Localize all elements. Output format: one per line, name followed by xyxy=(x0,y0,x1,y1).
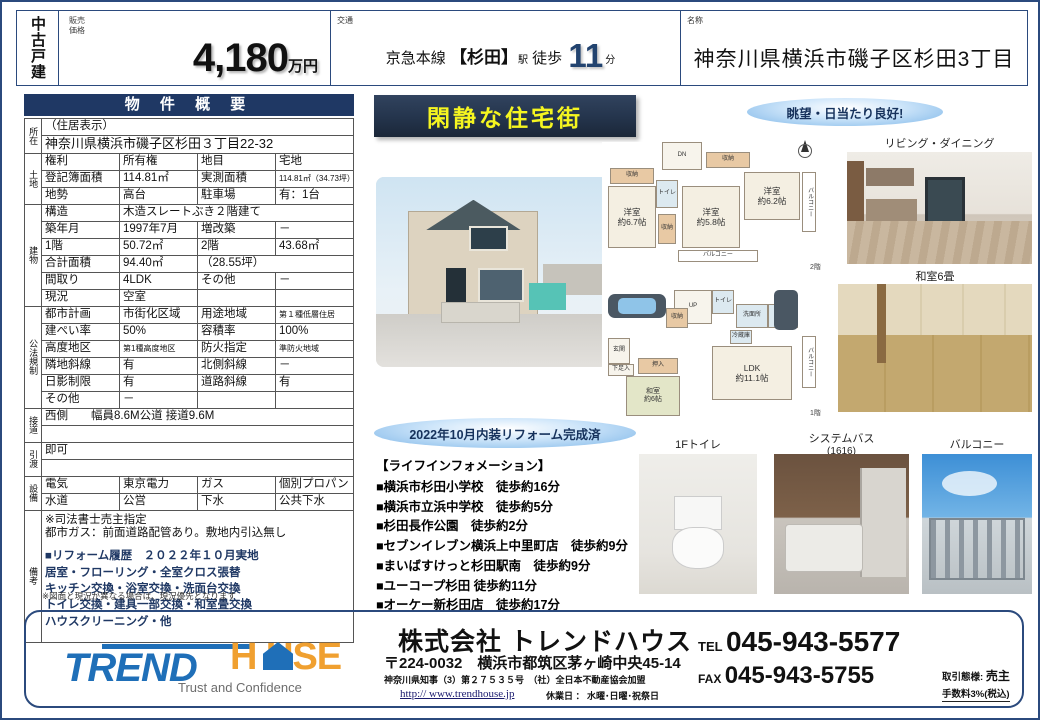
access-line-name: 京急本線 xyxy=(386,50,446,67)
company-website-link[interactable]: http:// www.trendhouse.jp xyxy=(400,688,514,700)
key-shadow-limit: 日影制限 xyxy=(42,374,120,391)
access-label: 交通 xyxy=(337,15,353,26)
table-row-shadow: 日影制限 有 道路斜線 有 xyxy=(25,374,354,391)
caption-living-dining: リビング・ダイニング xyxy=(847,135,1032,151)
key-north-slope: 北側斜線 xyxy=(198,357,276,374)
key-far: 容積率 xyxy=(198,323,276,340)
value-floor2: 43.68㎡ xyxy=(276,238,354,255)
row-label-handover: 引渡 xyxy=(25,442,42,476)
key-status: 現況 xyxy=(42,289,120,306)
value-cityplan: 市街化区域 xyxy=(120,306,198,323)
balcony-railing xyxy=(929,518,1026,580)
spec-table: 所在 （住居表示） 神奈川県横浜市磯子区杉田３丁目22-32 土地 権利 所有権… xyxy=(24,118,354,643)
stairs-2f: DN xyxy=(662,142,702,170)
floorplan-2f-label: 2階 xyxy=(810,262,821,272)
logo-tagline: Trust and Confidence xyxy=(178,680,302,695)
key-other: その他 xyxy=(198,272,276,289)
wa-pillar xyxy=(877,284,887,363)
life-info-item-2: ■杉田長作公園 徒歩約2分 xyxy=(376,517,646,537)
balcony-2f-south: バルコニー xyxy=(678,250,758,262)
value-fire: 準防火地域 xyxy=(276,340,354,357)
tel-label: TEL xyxy=(698,639,722,654)
key-floor2: 2階 xyxy=(198,238,276,255)
caption-washitsu: 和室6畳 xyxy=(838,268,1032,284)
exterior-window-lower xyxy=(478,268,524,302)
key-use-area: 用途地域 xyxy=(198,306,276,323)
room-washitsu-1f: 和室 約6帖 xyxy=(626,376,680,416)
banner-good-view: 眺望・日当たり良好! xyxy=(747,98,943,126)
room-toilet-1f: トイレ xyxy=(712,290,734,314)
key-coverage: 建ぺい率 xyxy=(42,323,120,340)
life-info-item-1: ■横浜市立浜中学校 徒歩約5分 xyxy=(376,498,646,518)
reform-line-0: ■リフォーム履歴 ２０２２年１０月実地 xyxy=(45,548,350,564)
spec-table-title: 物 件 概 要 xyxy=(24,94,354,116)
value-landuse: 宅地 xyxy=(276,153,354,170)
value-coverage: 50% xyxy=(120,323,198,340)
fax-row: FAX 045-943-5755 xyxy=(698,662,874,690)
caption-bath: システムバス (1616) xyxy=(774,430,909,457)
key-cityplan: 都市計画 xyxy=(42,306,120,323)
photo-washitsu xyxy=(838,284,1032,412)
key-floor1: 1階 xyxy=(42,238,120,255)
value-height-district: 第1種高度地区 xyxy=(120,340,198,357)
balcony-cloud xyxy=(942,471,997,496)
life-information-block: 【ライフインフォメーション】 ■横浜市杉田小学校 徒歩約16分 ■横浜市立浜中学… xyxy=(376,457,646,616)
access-station-suffix: 駅 xyxy=(518,55,528,66)
value-parking: 有：1台 xyxy=(276,187,354,204)
location-value: 神奈川県横浜市磯子区杉田３丁目22-32 xyxy=(42,136,354,154)
value-extension: － xyxy=(276,221,354,238)
table-row-height: 高度地区 第1種高度地区 防火指定 準防火地域 xyxy=(25,340,354,357)
table-row-structure: 建物 構造 木造スレートぶき２階建て xyxy=(25,204,354,221)
value-far: 100% xyxy=(276,323,354,340)
table-row-layout: 間取り 4LDK その他 － xyxy=(25,272,354,289)
value-otherreg-pad xyxy=(276,391,354,408)
banner-quiet-neighborhood: 閑静な住宅街 xyxy=(374,95,636,137)
value-use-area: 第１種低層住居 xyxy=(276,306,354,323)
room-entrance-1f: 玄関 xyxy=(608,338,630,364)
ld-flooring xyxy=(847,221,1032,264)
exterior-green-fence xyxy=(529,283,566,310)
access-minutes: 11 xyxy=(566,37,605,74)
key-height-district: 高度地区 xyxy=(42,340,120,357)
value-shadow-limit: 有 xyxy=(120,374,198,391)
room-ldk-1f: LDK 約11.1帖 xyxy=(712,346,792,400)
fax-number: 045-943-5755 xyxy=(725,662,874,689)
room-storage-2f-c: 収納 xyxy=(658,214,676,244)
table-row-road-pad xyxy=(25,425,354,442)
key-water: 水道 xyxy=(42,493,120,510)
key-structure: 構造 xyxy=(42,204,120,221)
wa-tatami-floor xyxy=(838,335,1032,412)
value-other: － xyxy=(276,272,354,289)
row-label-facility: 設備 xyxy=(25,476,42,510)
access-walk-label: 徒歩 xyxy=(532,50,562,67)
key-terrain: 地勢 xyxy=(42,187,120,204)
table-row-adjslope: 隣地斜線 有 北側斜線 － xyxy=(25,357,354,374)
table-row-status: 現況 空室 xyxy=(25,289,354,306)
remarks-line1: ※司法書士売主指定 xyxy=(45,514,350,527)
bath-tub xyxy=(785,524,863,572)
property-address: 神奈川県横浜市磯子区杉田3丁目 xyxy=(681,43,1027,73)
banner-reform-done: 2022年10月内装リフォーム完成済 xyxy=(374,418,636,448)
life-info-item-0: ■横浜市杉田小学校 徒歩約16分 xyxy=(376,478,646,498)
row-label-building: 建物 xyxy=(25,204,42,306)
parking-car-icon-2 xyxy=(774,290,798,330)
fax-label: FAX xyxy=(698,672,721,686)
photo-balcony xyxy=(922,454,1032,594)
row-label-regulation: 公法規制 xyxy=(25,306,42,408)
value-electric: 東京電力 xyxy=(120,476,198,493)
key-rights: 権利 xyxy=(42,153,120,170)
value-terrain: 高台 xyxy=(120,187,198,204)
name-label: 名称 xyxy=(687,15,703,26)
transaction-type-label: 取引態様: xyxy=(942,672,983,683)
caption-toilet: 1Fトイレ xyxy=(639,436,757,452)
key-built-date: 築年月 xyxy=(42,221,120,238)
photo-exterior xyxy=(376,177,608,367)
value-handover: 即可 xyxy=(42,442,354,459)
table-row-electric: 設備 電気 東京電力 ガス 個別プロパン xyxy=(25,476,354,493)
key-registered-area: 登記簿面積 xyxy=(42,170,120,187)
room-western-1-2f: 洋室 約6.7帖 xyxy=(608,186,656,248)
life-info-item-3: ■セブンイレブン横浜上中里町店 徒歩約9分 xyxy=(376,537,646,557)
life-info-heading: 【ライフインフォメーション】 xyxy=(376,457,646,477)
row-label-location: 所在 xyxy=(25,119,42,154)
key-landuse: 地目 xyxy=(198,153,276,170)
key-layout: 間取り xyxy=(42,272,120,289)
value-structure: 木造スレートぶき２階建て xyxy=(120,204,354,221)
tel-number: 045-943-5577 xyxy=(726,626,900,657)
value-road-slope: 有 xyxy=(276,374,354,391)
floorplan-2f: 収納 収納 DN トイレ 収納 洋室 約6.7帖 洋室 約5.8帖 洋室 約6.… xyxy=(602,142,830,292)
row-label-road: 接道 xyxy=(25,408,42,442)
key-electric: 電気 xyxy=(42,476,120,493)
disclaimer-text: ※図面と現況が異なる場合は、現況優先となります xyxy=(42,590,236,602)
table-row-otherreg: その他 － xyxy=(25,391,354,408)
logo-trend-text: TREND xyxy=(64,646,197,691)
company-address: 〒224-0032 横浜市都筑区茅ヶ崎中央45-14 xyxy=(384,652,681,673)
flyer-page: 中古戸建 販売 価格 4,180万円 交通 京急本線 【杉田】駅 徒歩 11分 … xyxy=(0,0,1040,720)
floorplan-1f-label: 1階 xyxy=(810,408,821,418)
access-value: 京急本線 【杉田】駅 徒歩 11分 xyxy=(331,37,670,75)
table-row-cityplan: 公法規制 都市計画 市街化区域 用途地域 第１種低層住居 xyxy=(25,306,354,323)
value-other-regulation: － xyxy=(120,391,198,408)
room-western-2-2f: 洋室 約5.8帖 xyxy=(682,186,740,248)
exterior-window-upper xyxy=(469,226,508,251)
table-row-floors: 1階 50.72㎡ 2階 43.68㎡ xyxy=(25,238,354,255)
value-status: 空室 xyxy=(120,289,198,306)
reform-line-1: 居室・フローリング・全室クロス張替 xyxy=(45,565,350,581)
ld-counter xyxy=(866,199,918,224)
toilet-bowl xyxy=(672,527,724,569)
table-row-builtdate: 築年月 1997年7月 増改築 － xyxy=(25,221,354,238)
key-otherreg-pad xyxy=(198,391,276,408)
life-info-item-4: ■まいばすけっと杉田駅南 徒歩約9分 xyxy=(376,557,646,577)
value-sewer: 公共下水 xyxy=(276,493,354,510)
access-cell: 交通 京急本線 【杉田】駅 徒歩 11分 xyxy=(331,11,681,85)
exterior-front-wall xyxy=(441,302,520,323)
shoebox-1f: 下足入 xyxy=(608,364,634,376)
footer-bar: TREND H USE Trust and Confidence 株式会社 トレ… xyxy=(24,610,1024,708)
ld-upper-cabinet xyxy=(866,168,914,186)
company-logo: TREND H USE Trust and Confidence xyxy=(60,626,360,696)
room-western-3-2f: 洋室 約6.2帖 xyxy=(744,172,800,220)
value-total-area-tsubo: （28.55坪） xyxy=(198,255,354,272)
key-road-slope: 道路斜線 xyxy=(198,374,276,391)
room-storage-2f-b: 収納 xyxy=(706,152,750,168)
table-row-area: 登記簿面積 114.81㎡ 実測面積 114.81㎡（34.73坪） xyxy=(25,170,354,187)
room-toilet-2f: トイレ xyxy=(656,180,678,208)
value-water: 公営 xyxy=(120,493,198,510)
balcony-1f: バルコニー xyxy=(802,336,816,388)
caption-balcony: バルコニー xyxy=(922,436,1032,452)
telephone-row: TEL 045-943-5577 xyxy=(698,626,900,658)
table-row-coverage: 建ぺい率 50% 容積率 100% xyxy=(25,323,354,340)
value-rights: 所有権 xyxy=(120,153,198,170)
value-layout: 4LDK xyxy=(120,272,198,289)
key-fire: 防火指定 xyxy=(198,340,276,357)
value-measured-area: 114.81㎡（34.73坪） xyxy=(276,170,354,187)
value-registered-area: 114.81㎡ xyxy=(120,170,198,187)
wa-wall xyxy=(838,284,1032,335)
photo-toilet xyxy=(639,454,757,594)
table-row-handover-pad xyxy=(25,459,354,476)
table-row-location-value: 神奈川県横浜市磯子区杉田３丁目22-32 xyxy=(25,136,354,154)
ld-door xyxy=(847,161,864,230)
table-row-water: 水道 公営 下水 公共下水 xyxy=(25,493,354,510)
value-gas: 個別プロパン xyxy=(276,476,354,493)
closet-1f: 押入 xyxy=(638,358,678,374)
table-row-total-area: 合計面積 94.40㎡ （28.55坪） xyxy=(25,255,354,272)
key-gas: ガス xyxy=(198,476,276,493)
transaction-type-value: 売主 xyxy=(986,669,1010,683)
value-adjacent-slope: 有 xyxy=(120,357,198,374)
company-holiday: 休業日 ： 水曜･日曜･祝祭日 xyxy=(546,689,659,702)
commission-fee: 手数料3%(税込) xyxy=(942,686,1010,702)
row-label-land: 土地 xyxy=(25,153,42,204)
key-parking: 駐車場 xyxy=(198,187,276,204)
table-row-location: 所在 （住居表示） xyxy=(25,119,354,136)
photo-living-dining xyxy=(847,152,1032,264)
table-row-handover: 引渡 即可 xyxy=(25,442,354,459)
property-type-label: 中古戸建 xyxy=(17,11,59,85)
key-extension: 増改築 xyxy=(198,221,276,238)
value-total-area: 94.40㎡ xyxy=(120,255,198,272)
table-row-terrain: 地勢 高台 駐車場 有：1台 xyxy=(25,187,354,204)
balcony-2f-east: バルコニー xyxy=(802,172,816,232)
price-label: 販売 価格 xyxy=(69,16,89,36)
room-washroom-1f: 洗面所 xyxy=(736,304,768,328)
ld-window xyxy=(925,177,966,227)
bath-wall-panel xyxy=(860,468,906,577)
table-row-road: 接道 西側 幅員8.6M公道 接道9.6M xyxy=(25,408,354,425)
key-measured-area: 実測面積 xyxy=(198,170,276,187)
key-adjacent-slope: 隣地斜線 xyxy=(42,357,120,374)
table-row-rights: 土地 権利 所有権 地目 宅地 xyxy=(25,153,354,170)
value-road-pad xyxy=(42,425,354,442)
value-handover-pad xyxy=(42,459,354,476)
room-storage-2f-a: 収納 xyxy=(610,168,654,184)
company-license: 神奈川県知事（3）第２７５３５号 （社）全日本不動産協会加盟 xyxy=(384,673,646,686)
location-note: （住居表示） xyxy=(42,119,354,136)
key-total-area: 合計面積 xyxy=(42,255,120,272)
price-cell: 販売 価格 4,180万円 xyxy=(59,11,331,85)
access-minutes-unit: 分 xyxy=(605,55,615,66)
value-status-pad xyxy=(276,289,354,306)
value-floor1: 50.72㎡ xyxy=(120,238,198,255)
price-value: 4,180万円 xyxy=(193,36,318,81)
value-north-slope: － xyxy=(276,357,354,374)
life-info-item-5: ■ユーコープ杉田 徒歩約11分 xyxy=(376,577,646,597)
key-other-regulation: その他 xyxy=(42,391,120,408)
key-status-pad xyxy=(198,289,276,306)
price-unit: 万円 xyxy=(288,58,318,75)
toilet-tank xyxy=(674,496,721,530)
compass-icon xyxy=(798,140,812,158)
remarks-line2: 都市ガス：前面道路配管あり。敷地内引込無し xyxy=(45,527,350,540)
parking-car-icon xyxy=(608,294,666,318)
photo-system-bath xyxy=(774,454,909,594)
key-sewer: 下水 xyxy=(198,493,276,510)
transaction-type: 取引態様: 売主 xyxy=(942,667,1010,684)
exterior-entrance-door xyxy=(446,268,467,306)
header-bar: 中古戸建 販売 価格 4,180万円 交通 京急本線 【杉田】駅 徒歩 11分 … xyxy=(16,10,1028,86)
value-road: 西側 幅員8.6M公道 接道9.6M xyxy=(42,408,354,425)
fridge-space: 冷蔵庫 xyxy=(730,330,752,344)
floorplan-1f: UP 収納 トイレ 洗面所 浴室 冷蔵庫 LDK 約11.1帖 玄関 下足入 押… xyxy=(602,290,830,422)
name-cell: 名称 神奈川県横浜市磯子区杉田3丁目 xyxy=(681,11,1027,85)
value-built-date: 1997年7月 xyxy=(120,221,198,238)
access-station: 【杉田】 xyxy=(450,48,518,67)
room-storage-1f: 収納 xyxy=(666,308,688,328)
